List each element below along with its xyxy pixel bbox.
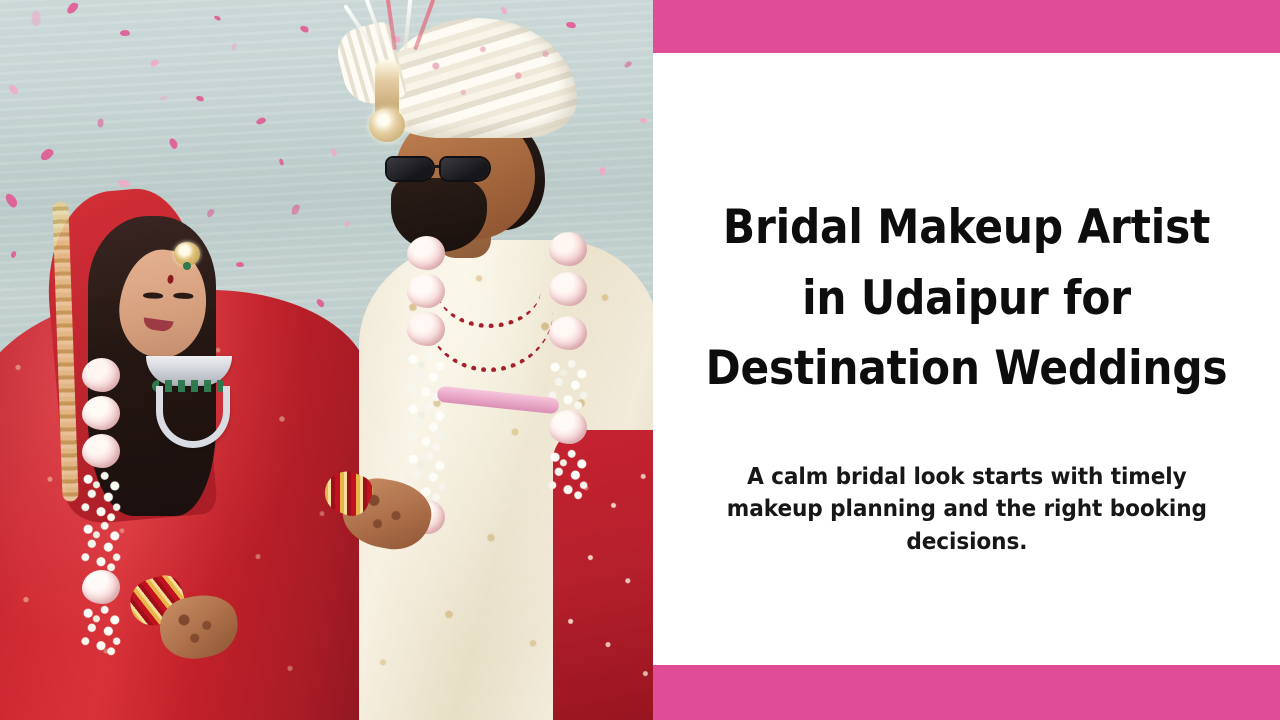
bottom-accent-bar [653,665,1280,720]
groom-figure [329,0,653,720]
page-title: Bridal Makeup Artist in Udaipur for Dest… [701,193,1233,405]
garland-rose [407,312,445,346]
garland-gypsophila [78,518,124,574]
groom-sunglasses [387,158,495,182]
bride-choker-necklace [146,356,232,386]
bride-figure [0,180,370,720]
garland-rose [549,316,587,350]
text-panel: Bridal Makeup Artist in Udaipur for Dest… [653,0,1280,720]
garland-rose [82,396,120,430]
top-accent-bar [653,0,1280,53]
garland-rose [549,232,587,266]
plume-feather [403,0,413,50]
bride-eye-right [173,292,193,299]
page-subtitle: A calm bridal look starts with timely ma… [711,461,1222,559]
slide-root: Bridal Makeup Artist in Udaipur for Dest… [0,0,1280,720]
wedding-couple-photo [0,0,653,720]
garland-gypsophila [545,446,591,502]
garland-gypsophila [78,602,124,658]
text-content-area: Bridal Makeup Artist in Udaipur for Dest… [653,53,1280,665]
garland-rose [407,274,445,308]
safa-feather-plume [365,0,431,58]
garland-gypsophila [78,468,124,524]
maang-tikka-jewel [174,242,200,266]
plume-feather [386,0,397,50]
groom-varmala-garland-right [545,228,591,528]
garland-rose [549,272,587,306]
garland-rose [82,434,120,468]
bride-varmala-garland [78,356,124,656]
garland-gypsophila [403,398,449,454]
sunglass-lens-right [441,158,489,180]
bride-eye-left [143,292,163,299]
garland-rose [549,410,587,444]
garland-rose [82,358,120,392]
sunglass-lens-left [387,158,433,180]
garland-rose [407,236,445,270]
safa-kalgi-brooch [375,60,399,132]
garland-rose [82,570,120,604]
